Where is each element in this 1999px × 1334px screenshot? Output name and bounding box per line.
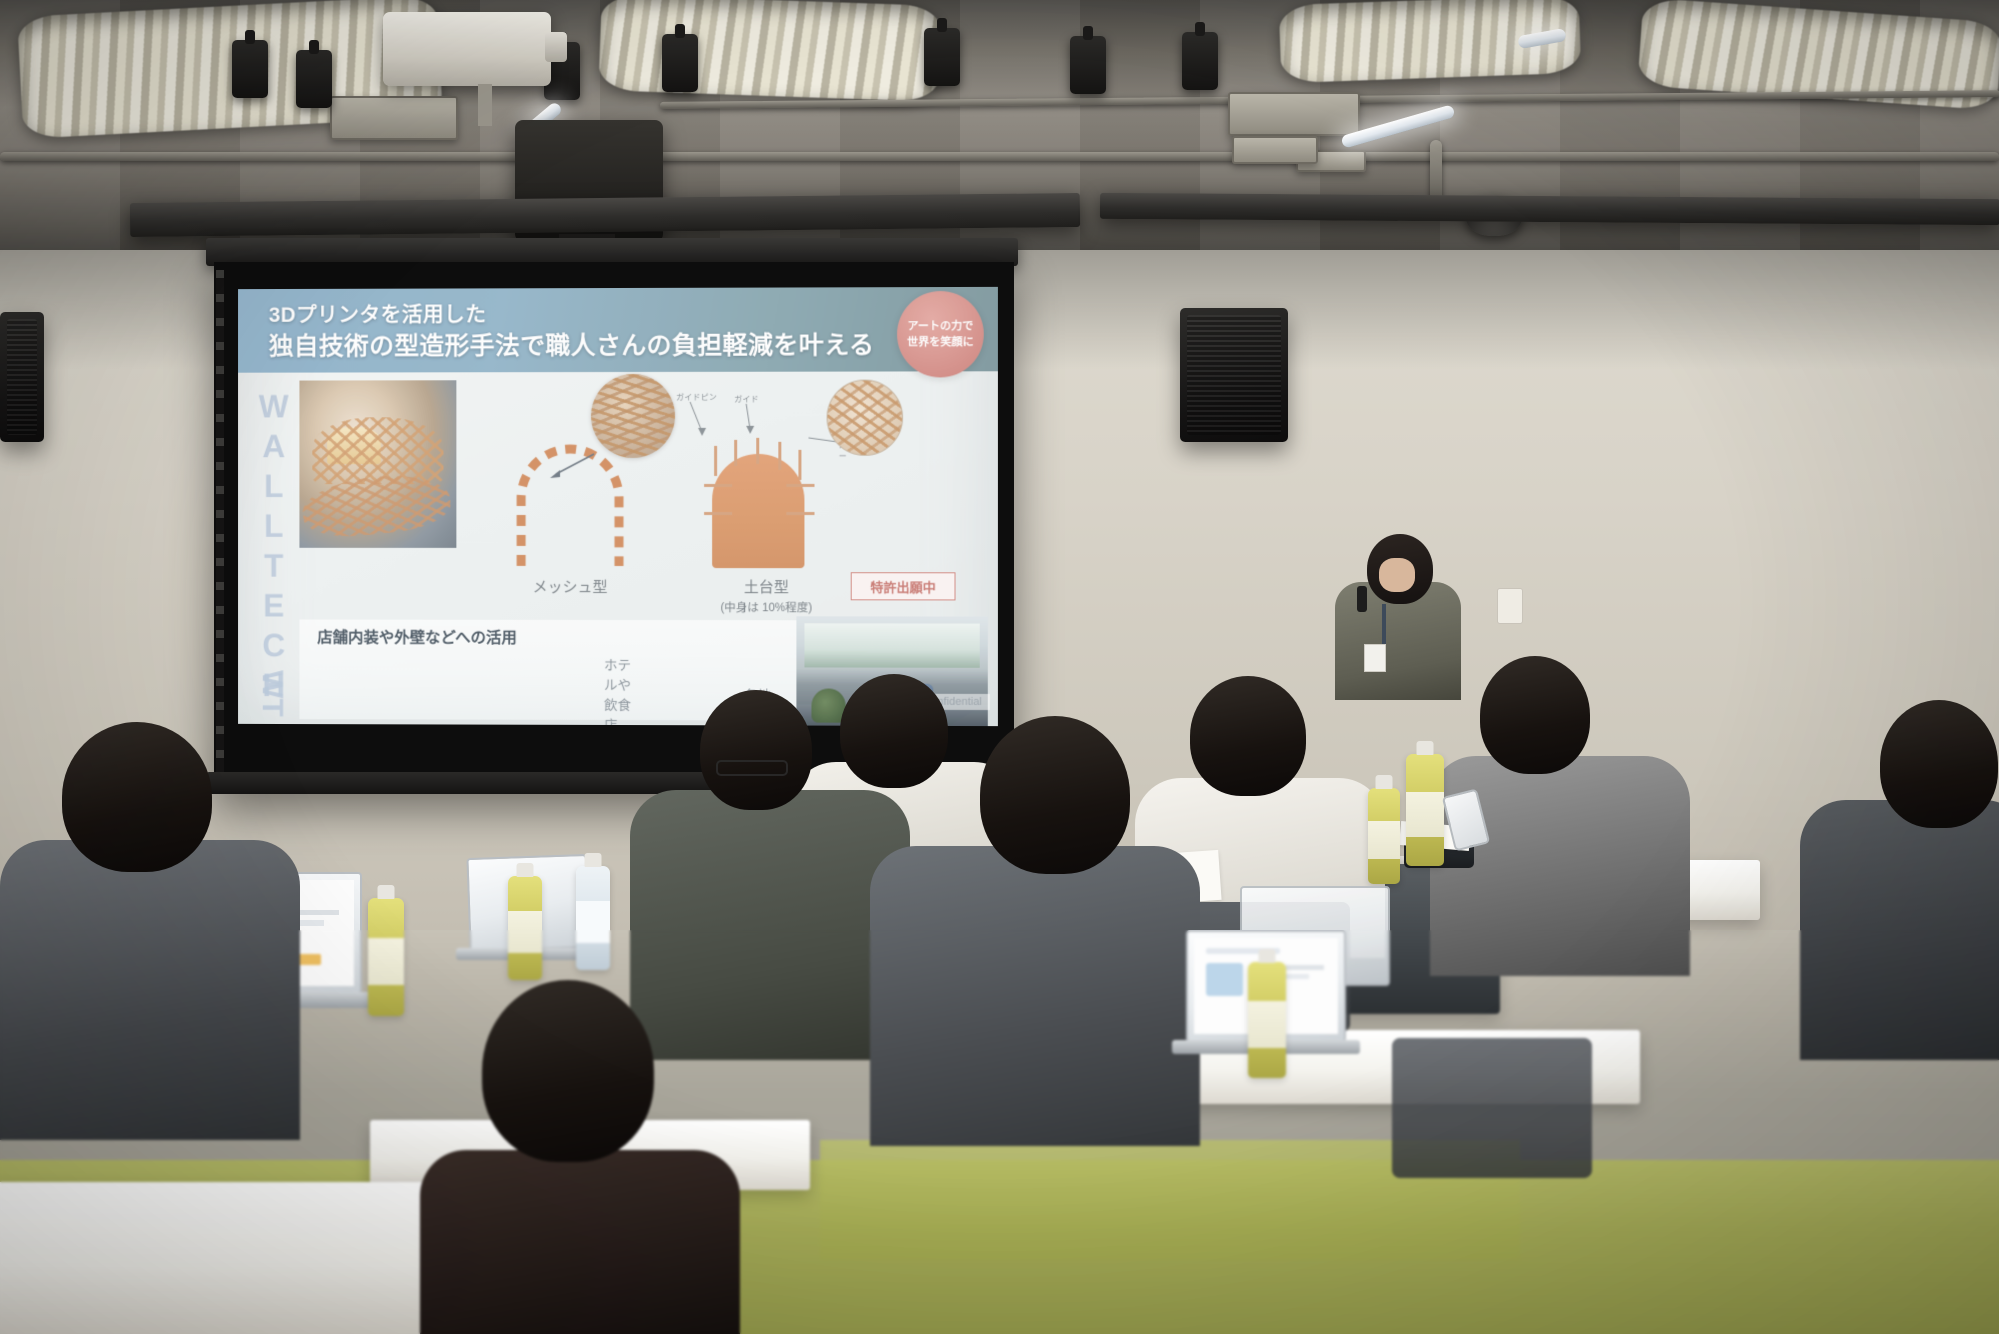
speaker-grille bbox=[1187, 315, 1281, 435]
walltech-logo: WALLTECH bbox=[244, 389, 292, 718]
person-torso bbox=[630, 790, 910, 1060]
tagline-line1: アートの力で bbox=[907, 318, 973, 335]
bottle-cap bbox=[1417, 741, 1434, 755]
insulated-duct bbox=[598, 0, 941, 102]
presenter-face bbox=[1379, 558, 1415, 592]
track-light bbox=[1070, 36, 1106, 94]
wall-speaker bbox=[0, 312, 44, 442]
stopper-bar bbox=[704, 512, 732, 515]
bottle-label bbox=[508, 911, 542, 953]
ceiling-projector bbox=[383, 12, 551, 86]
person-head bbox=[1880, 700, 1998, 828]
presentation-slide: 3Dプリンタを活用した 独自技術の型造形手法で職人さんの負担軽減を叶える アート… bbox=[238, 287, 998, 726]
stopper-bar bbox=[786, 484, 814, 487]
handheld-microphone bbox=[1357, 586, 1367, 612]
ceiling-panel bbox=[1232, 136, 1318, 164]
person-torso bbox=[1800, 800, 1999, 1060]
ui-panel bbox=[1206, 963, 1243, 996]
base-mold-body bbox=[712, 454, 804, 568]
track-light bbox=[232, 40, 268, 98]
product-photo bbox=[299, 380, 456, 548]
track-light bbox=[1182, 32, 1218, 90]
speaker-grille bbox=[7, 319, 37, 435]
lanyard bbox=[1382, 604, 1386, 644]
person-head bbox=[980, 716, 1130, 874]
track-light bbox=[924, 28, 960, 86]
tea-bottle bbox=[1248, 962, 1286, 1078]
bottle-cap bbox=[1259, 949, 1276, 963]
bottle-label bbox=[368, 938, 404, 985]
name-badge bbox=[1364, 644, 1386, 672]
water-bottle bbox=[576, 866, 610, 970]
photo-window bbox=[804, 623, 980, 668]
walltech-logo-mark: WT bbox=[245, 670, 289, 724]
base-closeup-bubble bbox=[827, 380, 904, 456]
person-head bbox=[1480, 656, 1590, 774]
tagline-line2: 世界を笑顔に bbox=[907, 334, 974, 351]
person-head bbox=[482, 980, 654, 1162]
stopper-bar bbox=[704, 484, 732, 487]
tagline-badge: アートの力で 世界を笑顔に bbox=[897, 291, 984, 378]
ceiling-panel bbox=[330, 96, 458, 140]
bottle-cap bbox=[585, 853, 602, 867]
person-torso bbox=[0, 840, 300, 1140]
slide-title-line2: 独自技術の型造形手法で職人さんの負担軽減を叶える bbox=[269, 329, 875, 362]
person-head bbox=[700, 690, 812, 810]
chair bbox=[1392, 1038, 1592, 1178]
screen-tension-edge bbox=[216, 270, 224, 780]
mesh-closeup-bubble bbox=[591, 374, 675, 458]
closeup-arrow-icon bbox=[548, 452, 596, 478]
wall-speaker bbox=[1180, 308, 1288, 442]
slide-title: 3Dプリンタを活用した 独自技術の型造形手法で職人さんの負担軽減を叶える bbox=[269, 301, 875, 362]
patent-pending-badge: 特許出願中 bbox=[851, 572, 956, 600]
ceiling-pipe bbox=[0, 152, 1999, 161]
person-torso bbox=[420, 1150, 740, 1334]
conference-room-photo: 3Dプリンタを活用した 独自技術の型造形手法で職人さんの負担軽減を叶える アート… bbox=[0, 0, 1999, 1334]
bottle-label bbox=[1406, 792, 1444, 837]
projector-mount bbox=[478, 84, 492, 126]
person-head bbox=[62, 722, 212, 872]
base-mold-label-group: 土台型 (中身は 10%程度) bbox=[696, 576, 837, 615]
base-mold-sublabel: (中身は 10%程度) bbox=[696, 599, 837, 615]
base-mold-label: 土台型 bbox=[696, 576, 837, 597]
mesh-mold-label: メッシュ型 bbox=[500, 576, 640, 597]
person-head bbox=[1190, 676, 1306, 796]
person-head bbox=[840, 674, 948, 788]
tea-bottle bbox=[1406, 754, 1444, 866]
bottle-label bbox=[1368, 821, 1400, 859]
tea-bottle bbox=[1368, 788, 1400, 884]
lower-heading: 店舗内装や外壁などへの活用 bbox=[317, 626, 517, 648]
bottle-cap bbox=[517, 863, 534, 877]
bottle-label bbox=[1248, 1001, 1286, 1047]
tea-bottle bbox=[508, 876, 542, 980]
stopper-bar bbox=[786, 512, 814, 515]
lattice-texture bbox=[312, 417, 444, 484]
ceiling-panel bbox=[1228, 92, 1360, 136]
slide-title-line1: 3Dプリンタを活用した bbox=[269, 301, 875, 329]
bottle-cap bbox=[378, 885, 395, 899]
track-light bbox=[662, 34, 698, 92]
bottle-label bbox=[576, 901, 610, 943]
tea-bottle bbox=[368, 898, 404, 1016]
bottle-cap bbox=[1376, 775, 1393, 789]
lower-bullet-1: ホテルや飲食店、ショップなどの内装に bbox=[604, 654, 640, 726]
person-torso bbox=[870, 846, 1200, 1146]
eyeglasses bbox=[716, 760, 788, 776]
wall-switch-plate[interactable] bbox=[1497, 588, 1523, 624]
track-light bbox=[296, 50, 332, 108]
